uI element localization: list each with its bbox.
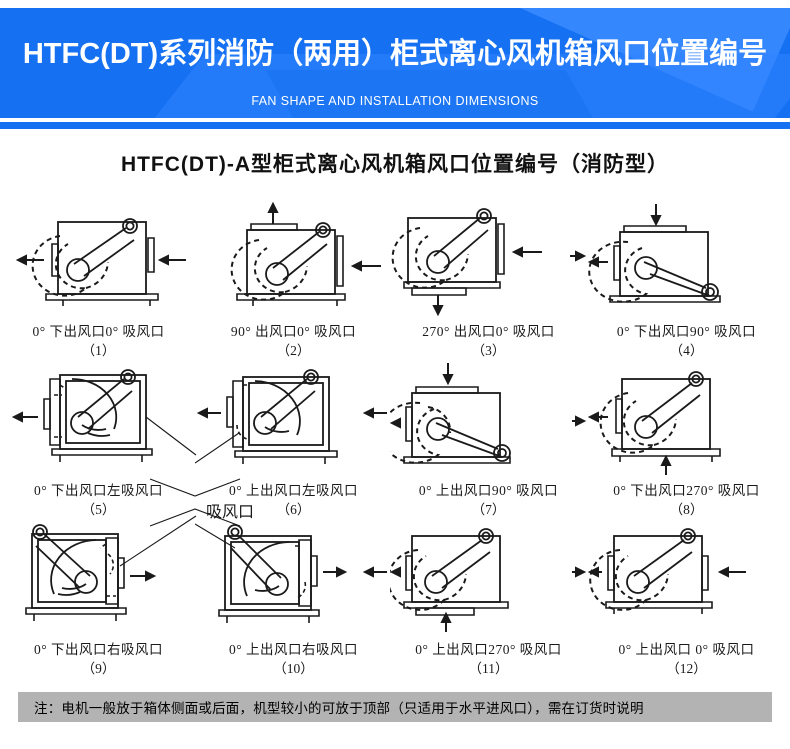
diagram-5: 0° 下出风口左吸风口 （5）: [0, 355, 197, 514]
diagram-label: 0° 上出风口90° 吸风口: [390, 479, 587, 499]
banner-title: HTFC(DT)系列消防（两用）柜式离心风机箱风口位置编号: [0, 30, 790, 72]
page-title: HTFC(DT)-A型柜式离心风机箱风口位置编号（消防型）: [0, 148, 790, 178]
diagram-row-2: 0° 下出风口左吸风口 （5）: [0, 355, 790, 514]
inlet-annotation-label: 吸风口: [150, 498, 310, 522]
diagram-9: 0° 下出风口右吸风口 （9）: [0, 514, 197, 673]
diagram-label: 0° 上出风口270° 吸风口: [390, 638, 587, 658]
diagram-row-1: 0° 下出风口0° 吸风口 （1）: [0, 196, 790, 355]
diagram-7: 0° 上出风口90° 吸风口 （7）: [390, 355, 587, 514]
diagram-label: 0° 下出风口左吸风口: [0, 479, 197, 499]
diagram-label: 0° 下出风口270° 吸风口: [588, 479, 785, 499]
diagram-row-3: 0° 下出风口右吸风口 （9）: [0, 514, 790, 673]
diagram-number: （10）: [195, 657, 392, 677]
footer-note: 注：电机一般放于箱体侧面或后面，机型较小的可放于顶部（只适用于水平进风口），需在…: [18, 692, 772, 722]
header-banner: HTFC(DT)系列消防（两用）柜式离心风机箱风口位置编号 FAN SHAPE …: [0, 8, 790, 118]
diagram-6: 0° 上出风口左吸风口 （6）: [195, 355, 392, 514]
diagram-number: （11）: [390, 657, 587, 677]
diagram-1: 0° 下出风口0° 吸风口 （1）: [0, 196, 197, 355]
diagram-label: 90° 出风口0° 吸风口: [195, 320, 392, 340]
diagram-label: 270° 出风口0° 吸风口: [390, 320, 587, 340]
diagram-label: 0° 上出风口 0° 吸风口: [588, 638, 785, 658]
diagram-label: 0° 下出风口右吸风口: [0, 638, 197, 658]
banner-bottom-rule: [0, 122, 790, 129]
diagram-label: 0° 下出风口90° 吸风口: [588, 320, 785, 340]
diagram-12: 0° 上出风口 0° 吸风口 （12）: [588, 514, 785, 673]
diagram-11: 0° 上出风口270° 吸风口 （11）: [390, 514, 587, 673]
diagram-grid: 0° 下出风口0° 吸风口 （1）: [0, 196, 790, 673]
diagram-label: 0° 下出风口0° 吸风口: [0, 320, 197, 340]
diagram-number: （12）: [588, 657, 785, 677]
diagram-10: 0° 上出风口右吸风口 （10）: [195, 514, 392, 673]
banner-subtitle: FAN SHAPE AND INSTALLATION DIMENSIONS: [0, 94, 790, 108]
diagram-2: 90° 出风口0° 吸风口 （2）: [195, 196, 392, 355]
diagram-4: 0° 下出风口90° 吸风口 （4）: [588, 196, 785, 355]
diagram-label: 0° 上出风口右吸风口: [195, 638, 392, 658]
diagram-number: （9）: [0, 657, 197, 677]
diagram-3: 270° 出风口0° 吸风口 （3）: [390, 196, 587, 355]
diagram-label: 0° 上出风口左吸风口: [195, 479, 392, 499]
diagram-8: 0° 下出风口270° 吸风口 （8）: [588, 355, 785, 514]
